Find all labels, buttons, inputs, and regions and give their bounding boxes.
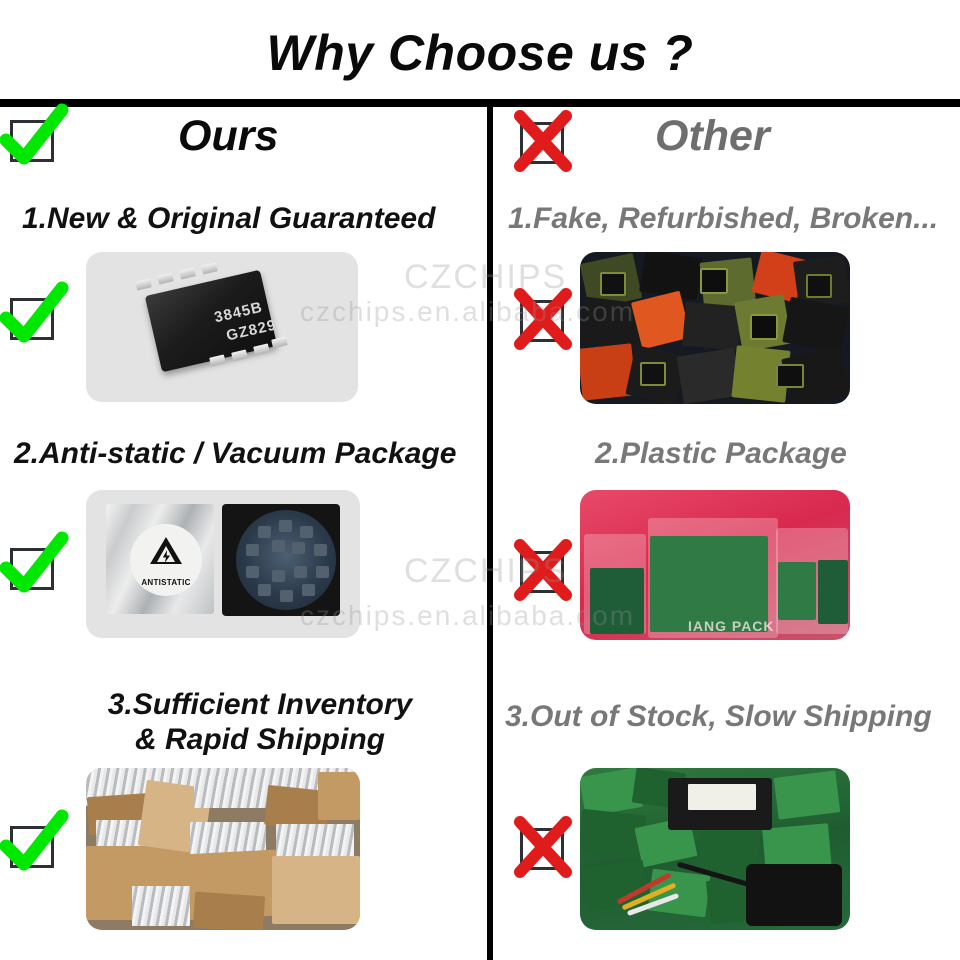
check-mark-icon bbox=[0, 106, 66, 172]
chip-pin bbox=[271, 336, 288, 348]
ours-item-2-label: 2.Anti-static / Vacuum Package bbox=[14, 437, 474, 472]
green-scrap-boards-photo bbox=[580, 768, 850, 930]
reel-cell bbox=[246, 544, 259, 556]
ours-item-3-label: 3.Sufficient Inventory & Rapid Shipping bbox=[60, 688, 460, 758]
column-header-ours: Ours bbox=[178, 112, 278, 161]
pcb-board bbox=[590, 568, 644, 634]
scrap-collage bbox=[580, 252, 850, 404]
reel-cell bbox=[279, 520, 292, 532]
warehouse-boxes-photo bbox=[86, 768, 360, 930]
reel-cell bbox=[258, 584, 271, 596]
chip-pin bbox=[201, 262, 218, 274]
other-item-1-cross bbox=[516, 292, 570, 346]
page-title: Why Choose us ? bbox=[0, 24, 960, 82]
pcb-board bbox=[778, 562, 816, 620]
check-mark-icon bbox=[0, 534, 66, 600]
reel-cell bbox=[272, 540, 285, 552]
reel-cell bbox=[246, 566, 259, 578]
cardboard-box bbox=[193, 892, 265, 930]
column-header-other: Other bbox=[655, 112, 770, 161]
other-item-2-cross bbox=[516, 543, 570, 597]
other-item-2-label: 2.Plastic Package bbox=[595, 437, 945, 472]
chip-pin bbox=[231, 349, 248, 361]
reel-cell bbox=[258, 526, 271, 538]
chip-pin bbox=[209, 354, 226, 366]
check-mark-icon bbox=[0, 812, 66, 878]
cross-mark-icon bbox=[510, 286, 576, 352]
chip-pin bbox=[253, 343, 270, 355]
reel-cell bbox=[314, 544, 327, 556]
pcb-in-plastic-bags-photo: IANG PACK bbox=[580, 490, 850, 640]
reel-cell bbox=[316, 566, 329, 578]
column-divider-vertical bbox=[487, 107, 493, 960]
header-check-mark-ours bbox=[6, 112, 60, 166]
cardboard-box bbox=[272, 856, 360, 924]
reel-cell bbox=[300, 526, 313, 538]
reel-cell bbox=[294, 566, 307, 578]
cross-mark-icon bbox=[510, 814, 576, 880]
other-item-3-label: 3.Out of Stock, Slow Shipping bbox=[505, 700, 955, 735]
scrap-chips-pile-photo bbox=[580, 252, 850, 404]
ours-item-2-check bbox=[6, 540, 60, 594]
ic-chip-photo: 3845B GZ829 bbox=[86, 252, 358, 402]
cross-mark-icon bbox=[510, 537, 576, 603]
ours-item-1-check bbox=[6, 290, 60, 344]
cross-mark-icon bbox=[510, 108, 576, 174]
chip-pin bbox=[135, 278, 152, 290]
module-label bbox=[688, 784, 756, 810]
antistatic-label: ANTISTATIC bbox=[130, 578, 202, 587]
reel-cell bbox=[280, 590, 293, 602]
ours-item-1-label: 1.New & Original Guaranteed bbox=[22, 202, 472, 237]
other-item-1-label: 1.Fake, Refurbished, Broken... bbox=[508, 202, 953, 237]
reel-cell bbox=[292, 542, 305, 554]
header-cross-mark-other bbox=[516, 114, 570, 168]
antistatic-bag-and-tray-photo: ANTISTATIC bbox=[86, 490, 360, 638]
cardboard-box bbox=[318, 772, 360, 820]
ours-item-3-check bbox=[6, 818, 60, 872]
plastic-pack-watermark: IANG PACK bbox=[688, 618, 775, 634]
reel-cell bbox=[302, 584, 315, 596]
check-mark-icon bbox=[0, 284, 66, 350]
chip-pin bbox=[179, 267, 196, 279]
pcb-board bbox=[818, 560, 848, 624]
chip-pin bbox=[157, 272, 174, 284]
reel-cell bbox=[272, 570, 285, 582]
other-item-3-cross bbox=[516, 820, 570, 874]
comparison-infographic: Why Choose us ? Ours Other 1.New & Origi… bbox=[0, 0, 960, 960]
header-divider-horizontal bbox=[0, 99, 960, 107]
black-device bbox=[746, 864, 842, 926]
